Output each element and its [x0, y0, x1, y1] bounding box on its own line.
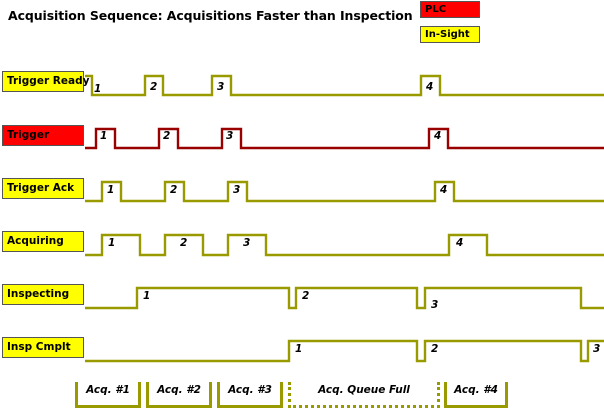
pulse-number-marker: 3 [593, 344, 600, 355]
waveform-trigger-ready [85, 76, 604, 95]
waveform-trigger-ack [85, 182, 604, 201]
pulse-number-marker: 2 [163, 131, 170, 142]
acquisition-bracket: Acq. #3 [217, 382, 283, 408]
signal-name-text: Trigger Ack [7, 183, 74, 194]
pulse-number-marker: 1 [108, 238, 115, 249]
pulse-number-marker: 1 [295, 344, 302, 355]
legend-item-plc: PLC [420, 1, 480, 18]
signal-name-text: Trigger [7, 130, 49, 141]
pulse-number-marker: 3 [243, 238, 250, 249]
signal-name-text: Trigger Ready [7, 76, 89, 87]
waveform-insp-cmplt [85, 341, 604, 361]
pulse-number-marker: 3 [431, 300, 438, 311]
signal-label-trigger-ack: Trigger Ack [2, 178, 84, 199]
pulse-number-marker: 3 [233, 185, 240, 196]
signal-name-text: Acquiring [7, 236, 64, 247]
signal-label-inspecting: Inspecting [2, 284, 84, 305]
pulse-number-marker: 1 [143, 291, 150, 302]
acquisition-bracket-label: Acq. Queue Full [291, 384, 437, 396]
pulse-number-marker: 4 [440, 185, 447, 196]
legend-label-plc: PLC [425, 5, 446, 15]
pulse-number-marker: 2 [302, 291, 309, 302]
acquisition-bracket-label: Acq. #4 [447, 384, 505, 396]
acquisition-bracket-label: Acq. #2 [149, 384, 209, 396]
acquisition-bracket-label: Acq. #3 [220, 384, 280, 396]
signal-label-acquiring: Acquiring [2, 231, 84, 252]
pulse-number-marker: 3 [226, 131, 233, 142]
timing-diagram: Acquisition Sequence: Acquisitions Faste… [0, 0, 604, 415]
pulse-number-marker: 1 [107, 185, 114, 196]
pulse-number-marker: 2 [431, 344, 438, 355]
acquisition-bracket: Acq. #2 [146, 382, 212, 408]
signal-label-trigger-ready: Trigger Ready [2, 71, 84, 92]
pulse-number-marker: 4 [434, 131, 441, 142]
pulse-number-marker: 4 [426, 82, 433, 93]
pulse-number-marker: 2 [150, 82, 157, 93]
waveform-acquiring [85, 235, 604, 255]
legend-label-insight: In-Sight [425, 30, 470, 40]
waveform-inspecting [85, 288, 604, 308]
pulse-number-marker: 2 [170, 185, 177, 196]
acquisition-bracket: Acq. #4 [444, 382, 508, 408]
signal-label-trigger: Trigger [2, 125, 84, 146]
pulse-number-marker: 1 [94, 84, 101, 95]
signal-label-insp-cmplt: Insp Cmplt [2, 337, 84, 358]
pulse-number-marker: 1 [100, 131, 107, 142]
acquisition-bracket: Acq. Queue Full [288, 382, 440, 408]
pulse-number-marker: 3 [217, 82, 224, 93]
signal-name-text: Insp Cmplt [7, 342, 71, 353]
pulse-number-marker: 4 [456, 238, 463, 249]
legend-item-insight: In-Sight [420, 26, 480, 43]
signal-name-text: Inspecting [7, 289, 69, 300]
acquisition-bracket: Acq. #1 [75, 382, 141, 408]
pulse-number-marker: 2 [180, 238, 187, 249]
page-title: Acquisition Sequence: Acquisitions Faste… [8, 8, 413, 23]
acquisition-bracket-label: Acq. #1 [78, 384, 138, 396]
